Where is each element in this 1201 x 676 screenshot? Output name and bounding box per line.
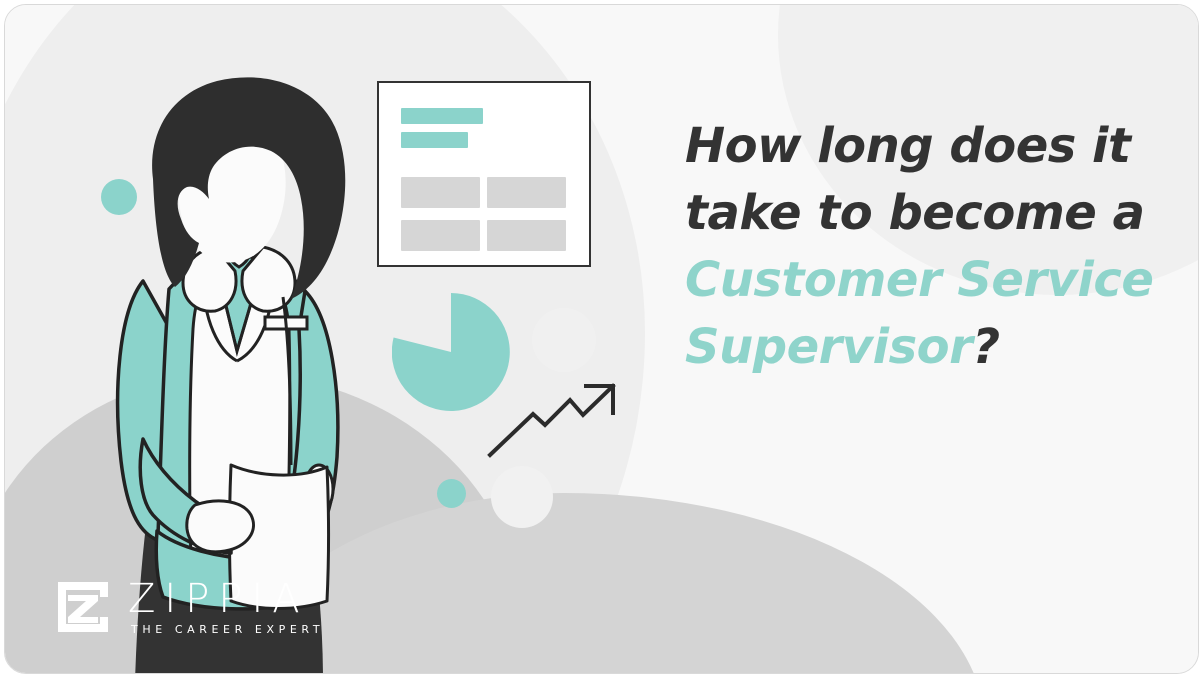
headline-line-4: Supervisor? (685, 314, 1155, 381)
zippia-wordmark: ZIPPIA (128, 579, 324, 619)
board-cell (487, 220, 566, 251)
headline-line-2: take to become a (685, 180, 1155, 247)
zippia-tagline: THE CAREER EXPERT (128, 623, 324, 637)
hero-card-background: How long does it take to become a Custom… (5, 5, 1198, 673)
board-cell (401, 177, 480, 208)
headline-question-mark: ? (972, 319, 999, 375)
zippia-z-mark-icon (55, 579, 111, 635)
zippia-logo-text: ZIPPIA THE CAREER EXPERT (128, 577, 324, 637)
board-cell (487, 177, 566, 208)
trending-up-arrow-icon (485, 375, 625, 461)
board-header-bar (401, 108, 483, 124)
headline-line-1: How long does it (685, 113, 1155, 180)
zippia-logo: ZIPPIA THE CAREER EXPERT (55, 577, 324, 637)
board-cell (401, 220, 480, 251)
gray-dot-icon (532, 308, 596, 372)
board-header-bar (401, 132, 468, 148)
screenshot-root: How long does it take to become a Custom… (0, 0, 1201, 676)
headline-line-4-accent: Supervisor (685, 319, 972, 375)
page-title: How long does it take to become a Custom… (685, 113, 1155, 381)
gray-dot-icon (491, 466, 553, 528)
headline-line-3-accent: Customer Service (685, 247, 1155, 314)
teal-dot-icon (437, 479, 466, 508)
hero-card: How long does it take to become a Custom… (4, 4, 1199, 674)
